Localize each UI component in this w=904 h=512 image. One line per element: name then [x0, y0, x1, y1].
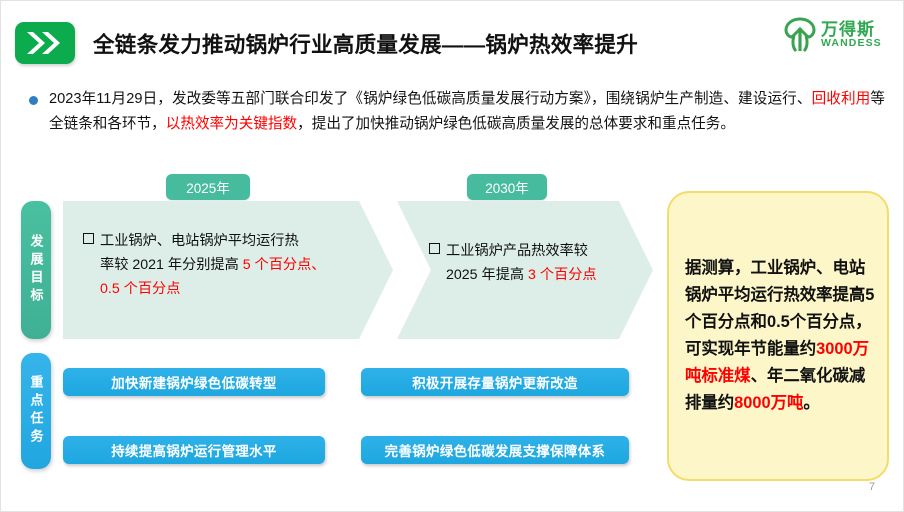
section-tab-key-tasks: 重点任务 [21, 353, 51, 469]
intro-text: 2023年11月29日，发改委等五部门联合印发了《锅炉绿色低碳高质量发展行动方案… [49, 87, 885, 137]
square-bullet-icon [83, 233, 94, 244]
intro-seg-0: 2023年11月29日，发改委等五部门联合印发了《锅炉绿色低碳高质量发展行动方案… [49, 91, 812, 107]
estimate-callout-box: 据测算，工业锅炉、电站锅炉平均运行热效率提高5个百分点和0.5个百分点，可实现年… [667, 191, 889, 481]
square-bullet-icon [429, 243, 440, 254]
year-pill-2025-label: 2025年 [186, 177, 230, 197]
goal-stage-1-line2: 率较 2021 年分别提高 [100, 257, 243, 273]
task-card-1-label: 加快新建锅炉绿色低碳转型 [111, 372, 277, 392]
goal-chevron-band: 工业锅炉、电站锅炉平均运行热 率较 2021 年分别提高 5 个百分点、 0.5… [63, 201, 653, 339]
section-tab-key-tasks-label: 重点任务 [30, 375, 43, 447]
goal-stage-1-line3-red: 0.5 个百分点 [83, 277, 371, 301]
goal-stage-1-line1: 工业锅炉、电站锅炉平均运行热 [100, 233, 299, 249]
goal-stage-2-line2: 2025 年提高 [446, 267, 528, 283]
estimate-callout-text: 据测算，工业锅炉、电站锅炉平均运行热效率提高5个百分点和0.5个百分点，可实现年… [685, 255, 877, 417]
callout-seg-3: 8000万吨 [734, 394, 803, 412]
task-card-3-label: 持续提高锅炉运行管理水平 [111, 440, 277, 460]
year-pill-2030-label: 2030年 [485, 177, 529, 197]
goal-stage-1-line2-red: 5 个百分点、 [243, 257, 326, 273]
wandess-leaf-logo-icon [783, 17, 817, 53]
company-logo: 万得斯 WANDESS [779, 11, 891, 61]
year-pill-2025: 2025年 [166, 174, 250, 200]
slide-canvas: 全链条发力推动锅炉行业高质量发展——锅炉热效率提升 万得斯 WANDESS 20… [0, 0, 904, 512]
intro-paragraph: 2023年11月29日，发改委等五部门联合印发了《锅炉绿色低碳高质量发展行动方案… [29, 87, 885, 137]
intro-seg-4: ，提出了加快推动锅炉绿色低碳高质量发展的总体要求和重点任务。 [297, 116, 735, 132]
task-card-4[interactable]: 完善锅炉绿色低碳发展支撑保障体系 [361, 436, 629, 464]
slide-header: 全链条发力推动锅炉行业高质量发展——锅炉热效率提升 万得斯 WANDESS [1, 1, 904, 79]
section-tab-development-goal: 发展目标 [21, 201, 51, 339]
bullet-dot-icon [29, 96, 38, 105]
intro-seg-3: 以热效率为关键指数 [166, 116, 297, 132]
callout-seg-4: 。 [803, 394, 819, 412]
intro-seg-1: 回收利用 [812, 91, 871, 107]
section-tab-development-goal-label: 发展目标 [30, 234, 43, 306]
goal-stage-2-line2-red: 3 个百分点 [528, 267, 597, 283]
goal-stage-2-text: 工业锅炉产品热效率较 2025 年提高 3 个百分点 [429, 239, 659, 287]
page-title: 全链条发力推动锅炉行业高质量发展——锅炉热效率提升 [93, 28, 638, 59]
task-card-2-label: 积极开展存量锅炉更新改造 [412, 372, 578, 392]
double-chevron-right-icon [15, 22, 75, 64]
task-card-3[interactable]: 持续提高锅炉运行管理水平 [63, 436, 325, 464]
goal-stage-1-text: 工业锅炉、电站锅炉平均运行热 率较 2021 年分别提高 5 个百分点、 0.5… [83, 229, 371, 301]
task-card-2[interactable]: 积极开展存量锅炉更新改造 [361, 368, 629, 396]
task-card-4-label: 完善锅炉绿色低碳发展支撑保障体系 [385, 440, 606, 460]
goal-stage-2-line1: 工业锅炉产品热效率较 [446, 243, 588, 259]
year-pill-2030: 2030年 [467, 174, 547, 200]
page-number: 7 [869, 481, 875, 493]
logo-name-en: WANDESS [821, 37, 882, 49]
task-card-1[interactable]: 加快新建锅炉绿色低碳转型 [63, 368, 325, 396]
